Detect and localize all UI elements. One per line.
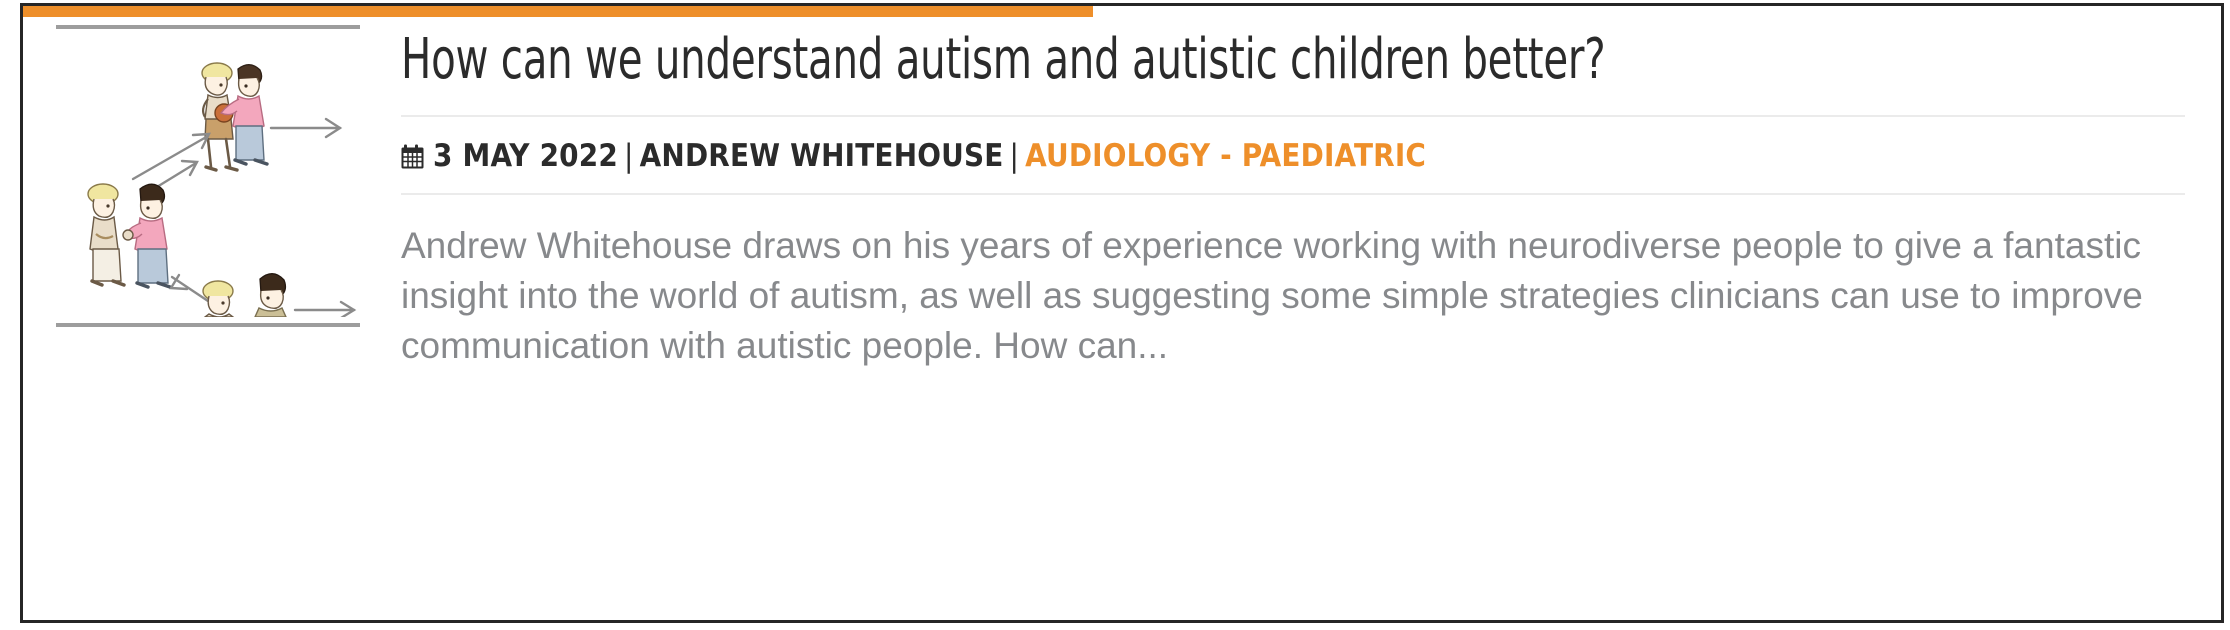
meta-separator-2: | [1004,139,1026,173]
post-title[interactable]: How can we understand autism and autisti… [401,29,2185,91]
orange-accent-bar [23,6,1093,17]
title-divider [401,115,2185,117]
post-author[interactable]: ANDREW WHITEHOUSE [640,139,1004,173]
thumbnail-column[interactable] [56,25,366,327]
post-date: 3 MAY 2022 [433,139,618,173]
post-thumbnail[interactable] [56,29,360,317]
post-content: How can we understand autism and autisti… [401,29,2185,408]
article-card[interactable]: How can we understand autism and autisti… [20,3,2224,623]
meta-divider [401,193,2185,195]
thumbnail-rule-bottom [56,323,360,327]
post-excerpt: Andrew Whitehouse draws on his years of … [401,221,2161,371]
post-meta: 3 MAY 2022 | ANDREW WHITEHOUSE | AUDIOLO… [401,139,2185,173]
meta-separator-1: | [618,139,640,173]
post-category-link[interactable]: AUDIOLOGY - PAEDIATRIC [1025,139,1426,173]
card-inner: How can we understand autism and autisti… [23,17,2221,620]
calendar-icon [401,144,424,169]
